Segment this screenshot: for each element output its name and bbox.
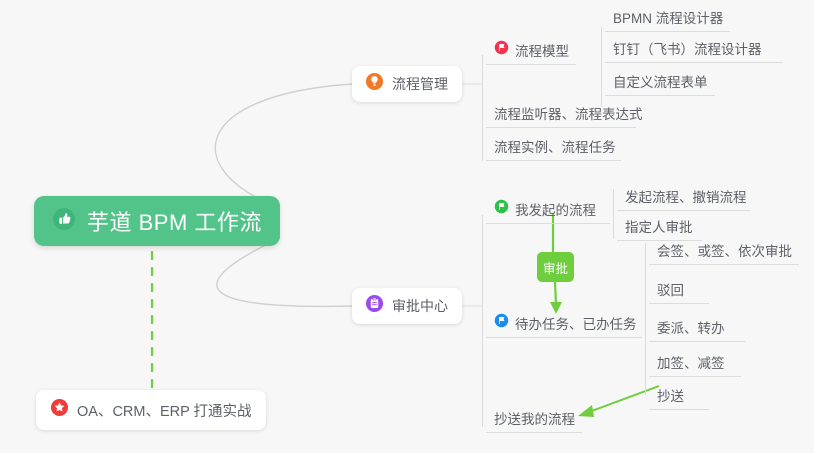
node-assigned-approval-label: 指定人审批 (625, 219, 693, 236)
node-cc-to-me-label: 抄送我的流程 (494, 411, 575, 428)
approval-chip[interactable]: 审批 (537, 252, 574, 282)
lightbulb-icon (365, 72, 384, 96)
spine-process-model-children (601, 27, 602, 107)
node-reject-label: 驳回 (657, 282, 684, 299)
cc-flow-arrow (578, 386, 659, 417)
node-bpmn-designer-label: BPMN 流程设计器 (613, 10, 723, 27)
node-process-instance-label: 流程实例、流程任务 (494, 139, 616, 156)
node-custom-form[interactable]: 自定义流程表单 (605, 74, 715, 96)
node-process-listener[interactable]: 流程监听器、流程表达式 (486, 106, 636, 128)
node-assigned-approval[interactable]: 指定人审批 (617, 219, 702, 241)
root-node[interactable]: 芋道 BPM 工作流 (34, 196, 280, 246)
node-delegate-transfer-label: 委派、转办 (657, 320, 725, 337)
node-start-cancel-process[interactable]: 发起流程、撤销流程 (617, 189, 750, 211)
node-countersign[interactable]: 会签、或签、依次审批 (649, 243, 799, 265)
branch-approval-center-label: 审批中心 (392, 296, 448, 316)
node-start-cancel-process-label: 发起流程、撤销流程 (625, 189, 747, 206)
node-reject[interactable]: 驳回 (649, 282, 709, 304)
branch-process-management-label: 流程管理 (392, 74, 448, 94)
node-cc-label: 抄送 (657, 388, 684, 405)
node-dingtalk-designer[interactable]: 钉钉（飞书）流程设计器 (605, 41, 783, 63)
root-label: 芋道 BPM 工作流 (87, 205, 262, 237)
node-process-model[interactable]: 流程模型 (486, 40, 576, 65)
node-todo-done-tasks-label: 待办任务、已办任务 (515, 316, 637, 333)
node-my-initiated-label: 我发起的流程 (515, 202, 596, 219)
node-add-remove-sign[interactable]: 加签、减签 (649, 355, 741, 377)
node-process-listener-label: 流程监听器、流程表达式 (494, 106, 643, 123)
node-countersign-label: 会签、或签、依次审批 (657, 243, 792, 260)
node-process-model-label: 流程模型 (515, 43, 569, 60)
node-cc[interactable]: 抄送 (649, 388, 709, 410)
spine-approval-center (482, 215, 483, 427)
spine-process-management (482, 55, 483, 161)
clipboard-icon (365, 294, 384, 318)
spine-my-initiated-children (613, 189, 614, 239)
node-delegate-transfer[interactable]: 委派、转办 (649, 320, 745, 342)
spine-todo-children (645, 243, 646, 395)
node-dingtalk-designer-label: 钉钉（飞书）流程设计器 (613, 41, 762, 58)
node-add-remove-sign-label: 加签、减签 (657, 355, 725, 372)
node-custom-form-label: 自定义流程表单 (613, 74, 708, 91)
star-icon (50, 398, 69, 422)
node-my-initiated[interactable]: 我发起的流程 (486, 199, 610, 224)
mindmap-canvas: 芋道 BPM 工作流 OA、CRM、ERP 打通实战 流程管理 (0, 0, 814, 453)
branch-approval-center[interactable]: 审批中心 (352, 288, 462, 324)
flag-icon-blue (494, 313, 509, 332)
node-process-instance[interactable]: 流程实例、流程任务 (486, 139, 621, 161)
branch-process-management[interactable]: 流程管理 (352, 66, 462, 102)
node-bpmn-designer[interactable]: BPMN 流程设计器 (605, 10, 730, 32)
bottom-note-node[interactable]: OA、CRM、ERP 打通实战 (36, 390, 266, 430)
thumbs-up-icon (52, 207, 76, 236)
flag-icon-green (494, 199, 509, 218)
bottom-note-label: OA、CRM、ERP 打通实战 (77, 400, 252, 421)
flag-icon-red (494, 40, 509, 59)
approval-chip-label: 审批 (543, 258, 568, 277)
node-todo-done-tasks[interactable]: 待办任务、已办任务 (486, 313, 642, 338)
node-cc-to-me[interactable]: 抄送我的流程 (486, 411, 582, 433)
